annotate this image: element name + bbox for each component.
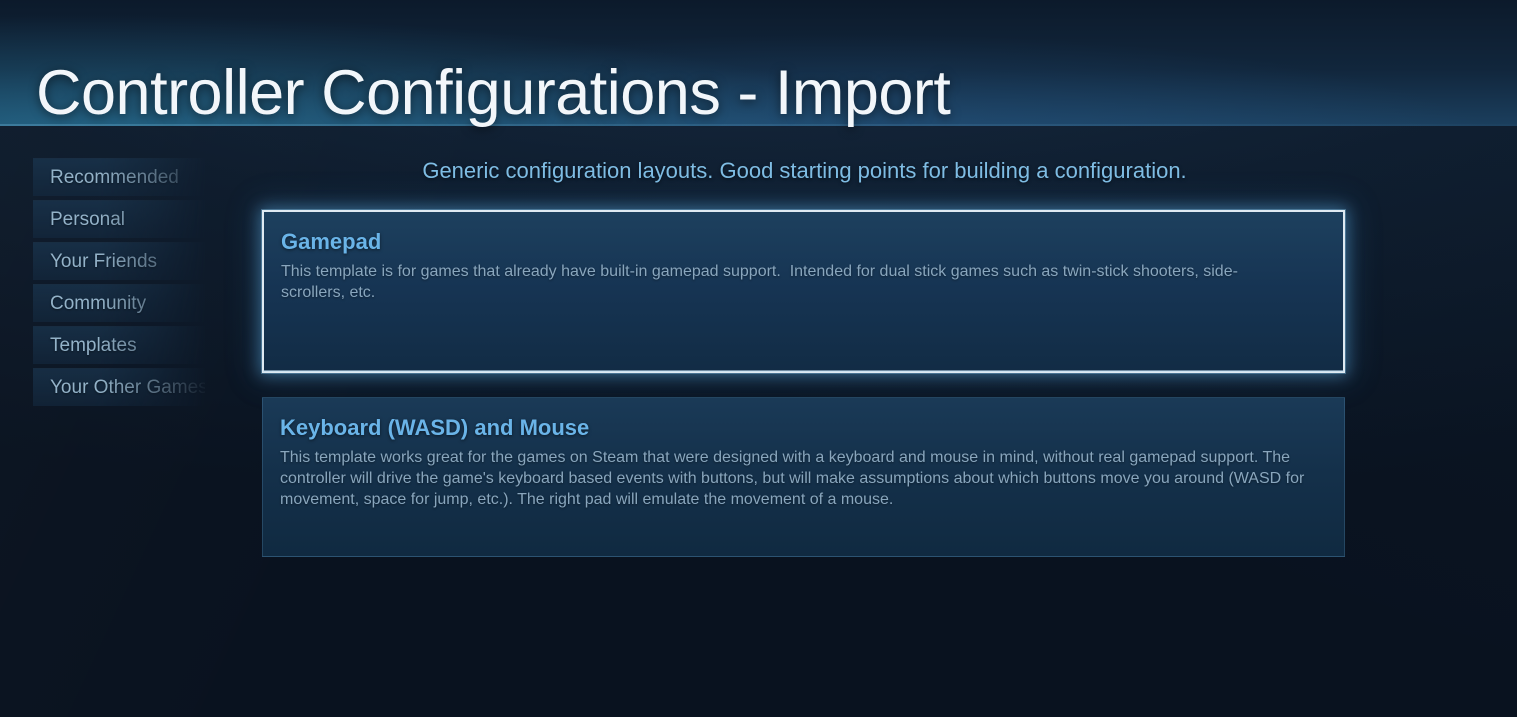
sidebar-item-your-other-games[interactable]: Your Other Games [33,368,205,406]
sidebar: Recommended Personal Your Friends Commun… [33,158,205,410]
sidebar-item-label: Community [50,293,146,315]
sidebar-item-recommended[interactable]: Recommended [33,158,205,196]
sidebar-item-templates[interactable]: Templates [33,326,205,364]
template-card-description: This template works great for the games … [280,447,1320,510]
template-card-title: Gamepad [281,228,1326,256]
controller-config-import-screen: Controller Configurations - Import Recom… [0,0,1517,717]
template-card-description: This template is for games that already … [281,261,1291,303]
template-card-gamepad[interactable]: Gamepad This template is for games that … [262,210,1345,373]
sidebar-item-label: Recommended [50,167,179,189]
page-title: Controller Configurations - Import [36,58,950,128]
sidebar-item-label: Your Friends [50,251,157,273]
sidebar-item-your-friends[interactable]: Your Friends [33,242,205,280]
sidebar-item-label: Templates [50,335,137,357]
section-subtitle: Generic configuration layouts. Good star… [262,150,1347,192]
main-content: Generic configuration layouts. Good star… [262,150,1347,557]
sidebar-item-personal[interactable]: Personal [33,200,205,238]
sidebar-item-label: Your Other Games [50,377,208,399]
sidebar-item-label: Personal [50,209,125,231]
template-card-title: Keyboard (WASD) and Mouse [280,414,1327,442]
template-card-keyboard-wasd-and-mouse[interactable]: Keyboard (WASD) and Mouse This template … [262,397,1345,557]
sidebar-item-community[interactable]: Community [33,284,205,322]
